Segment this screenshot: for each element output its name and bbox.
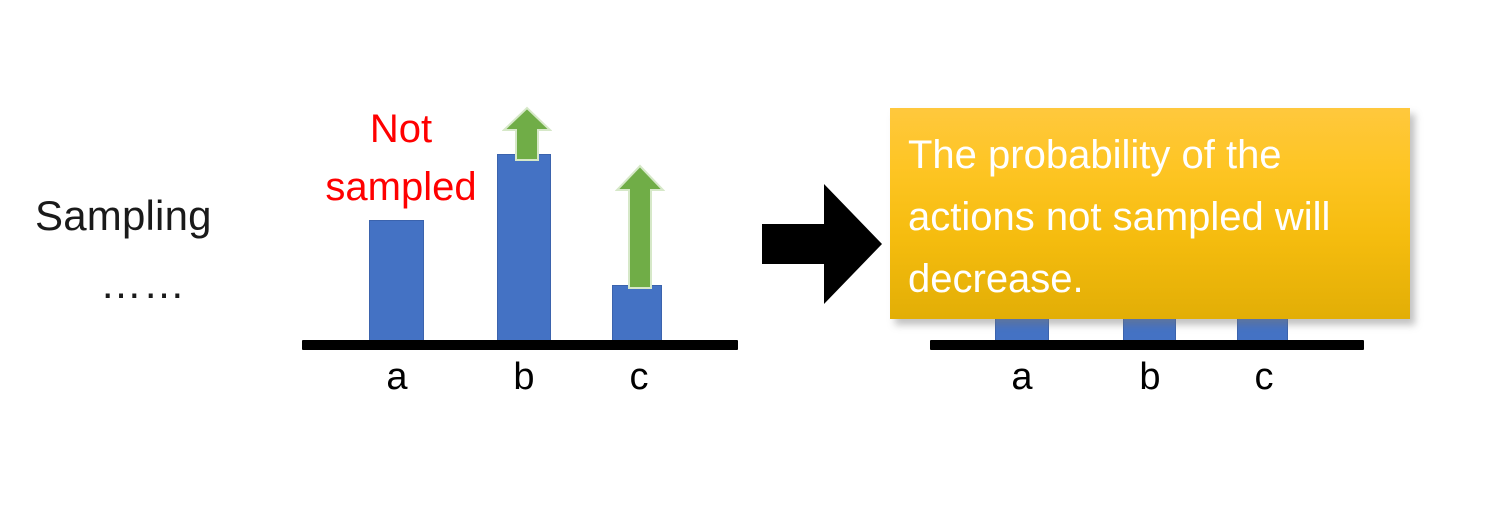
callout-box: The probability of the actions not sampl… <box>890 108 1410 319</box>
sampling-ellipsis: …… <box>100 260 186 308</box>
tick-label-b-after: b <box>1124 358 1176 396</box>
not-sampled-annotation: Not sampled <box>306 100 496 216</box>
up-arrow-icon-b <box>502 106 552 162</box>
bar-b <box>497 154 551 344</box>
diagram-canvas: Sampling …… Not sampled a b c a b <box>0 0 1496 512</box>
tick-label-b: b <box>498 358 550 396</box>
callout-text: The probability of the actions not sampl… <box>908 124 1398 310</box>
right-axis-line <box>930 340 1364 350</box>
up-arrow-icon-c <box>615 164 665 290</box>
right-arrow-icon <box>762 184 882 304</box>
tick-label-a-after: a <box>996 358 1048 396</box>
bar-a <box>369 220 424 344</box>
sampling-label: Sampling <box>35 192 212 240</box>
left-axis-line <box>302 340 738 350</box>
tick-label-c: c <box>613 358 665 396</box>
tick-label-a: a <box>371 358 423 396</box>
tick-label-c-after: c <box>1238 358 1290 396</box>
bar-c <box>612 285 662 344</box>
